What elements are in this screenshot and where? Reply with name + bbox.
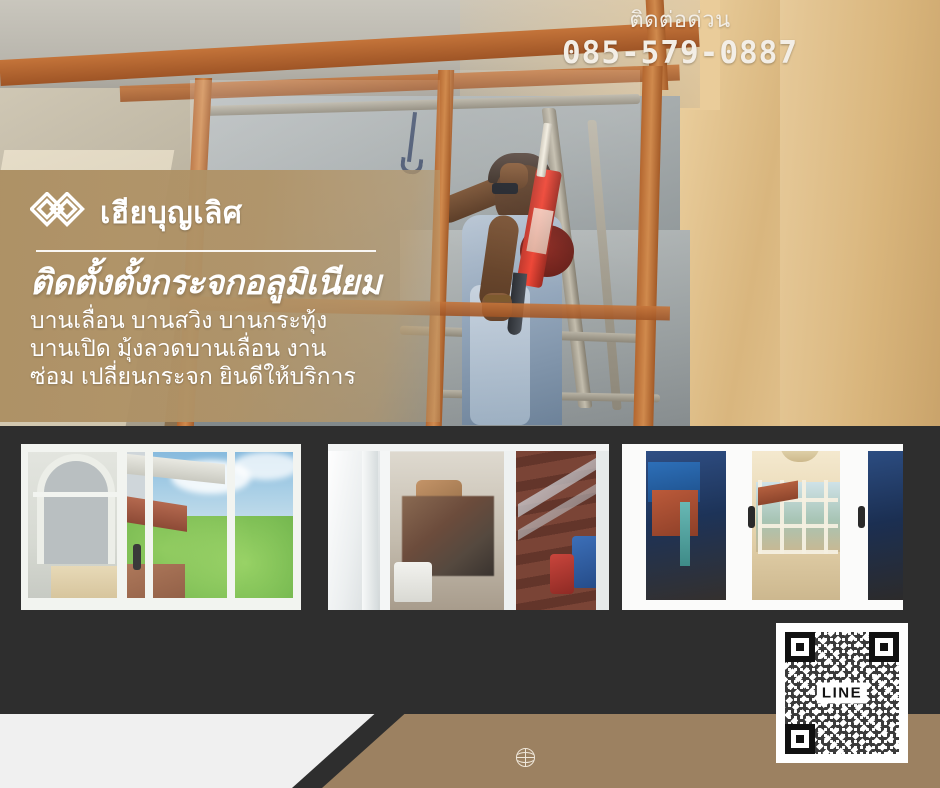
hero-subline-line-3: ซ่อม เปลี่ยนกระจก ยินดีให้บริการ [30, 362, 420, 390]
thumb3-handle-right [858, 506, 865, 528]
thumb2-plastic-chair [394, 562, 432, 602]
hero-glass-sheen-2 [450, 70, 640, 426]
thumb3-frame-top [622, 444, 903, 451]
thumb3-glass-right [866, 450, 903, 604]
qr-label: LINE [817, 683, 867, 704]
thumb3-handle-left [748, 506, 755, 528]
thumb2-door-edge [362, 444, 378, 610]
thumb1-handle [133, 544, 141, 570]
thumb1-mullion-4 [227, 444, 235, 610]
thumb2-frame-1 [380, 444, 390, 610]
thumb1-arch-window [37, 454, 115, 564]
poster-root: เฮียบุญเลิศ ติดตั้งตั้งกระจกอลูมิเนียม บ… [0, 0, 940, 788]
thumb1-frame-bottom [21, 598, 301, 610]
thumb2-frame-top [328, 444, 609, 451]
thumb1-mullion-5 [293, 444, 301, 610]
thumb1-cloud-2 [233, 452, 299, 480]
contact-phone[interactable]: 085-579-0887 [520, 35, 840, 71]
hero-subline: บานเลื่อน บานสวิง บานกระทุ้ง บานเปิด มุ้… [30, 306, 420, 390]
brand-name: เฮียบุญเลิศ [100, 199, 242, 229]
line-qr-card[interactable]: LINE [776, 623, 908, 763]
globe-icon [516, 748, 535, 767]
thumb1-mullion-3 [145, 444, 153, 610]
thumb2-frame-2 [504, 444, 516, 610]
thumb3-frame-bottom [622, 600, 903, 610]
gallery-strip [0, 444, 940, 610]
hero-text-panel: เฮียบุญเลิศ ติดตั้งตั้งกระจกอลูมิเนียม บ… [0, 170, 440, 422]
gallery-item-1[interactable] [21, 444, 301, 610]
thumb1-mullion-h2 [33, 492, 117, 497]
qr-finder-top-right [869, 632, 899, 662]
brand-divider [36, 250, 376, 252]
qr-code: LINE [785, 632, 899, 754]
brand-row: เฮียบุญเลิศ [30, 188, 420, 240]
gallery-item-2[interactable] [328, 444, 609, 610]
gallery-item-3[interactable] [622, 444, 903, 610]
hero-subline-line-1: บานเลื่อน บานสวิง บานกระทุ้ง [30, 306, 420, 334]
thumb1-frame-top [21, 444, 301, 452]
contact-title: ติดต่อด่วน [520, 8, 840, 32]
qr-finder-bottom-left [785, 724, 815, 754]
thumb3-mullion-1 [622, 444, 646, 610]
hero-headline: ติดตั้งตั้งกระจกอลูมิเนียม [30, 266, 420, 300]
thumb1-mullion-1 [21, 444, 28, 610]
thumb2-bag-red [550, 554, 574, 594]
thumb2-frame-3 [596, 444, 609, 610]
contact-block: ติดต่อด่วน 085-579-0887 [520, 8, 840, 71]
thumb3-reflection-pipe [680, 502, 690, 566]
thumb1-sill [51, 566, 121, 600]
hero-subline-line-2: บานเปิด มุ้งลวดบานเลื่อน งาน [30, 334, 420, 362]
thumb3-reflection-brick [652, 490, 698, 536]
thumb1-mullion-2 [117, 444, 127, 610]
qr-finder-top-left [785, 632, 815, 662]
interlocking-diamonds-logo-icon [30, 192, 86, 236]
